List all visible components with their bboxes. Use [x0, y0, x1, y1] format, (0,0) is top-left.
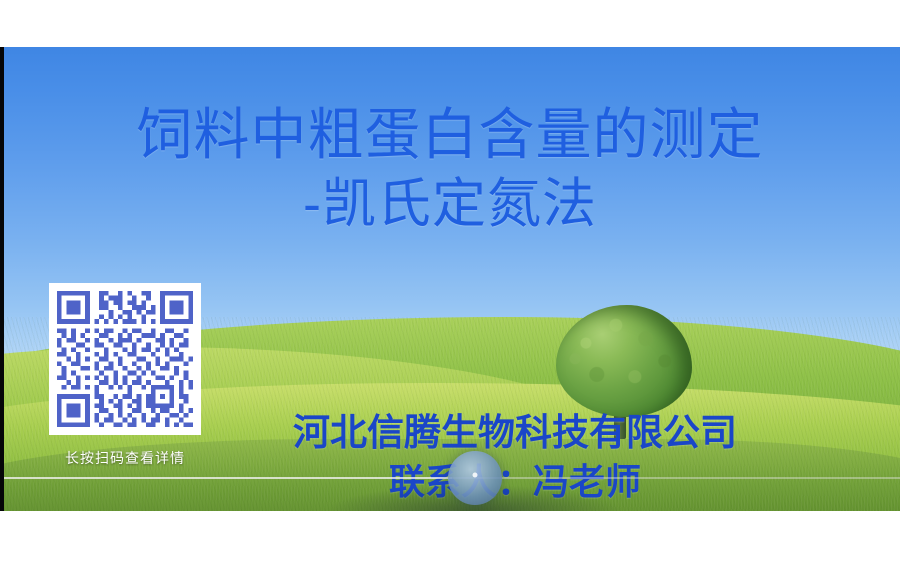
qr-caption: 长按扫码查看详情 [49, 449, 201, 467]
qr-code[interactable] [49, 283, 201, 435]
screenshot-root: 饲料中粗蛋白含量的测定 -凯氏定氮法 [0, 0, 900, 561]
video-progress-fill [4, 477, 452, 479]
qr-code-image [57, 291, 193, 427]
qr-panel[interactable]: 长按扫码查看详情 [49, 283, 201, 467]
video-left-border [0, 47, 4, 511]
tree-canopy [556, 305, 692, 417]
bottom-white-band [0, 511, 900, 561]
video-player[interactable]: 饲料中粗蛋白含量的测定 -凯氏定氮法 [0, 47, 900, 511]
tree-icon [548, 305, 700, 441]
top-white-band [0, 0, 900, 47]
video-scrubber-handle[interactable] [448, 451, 502, 505]
